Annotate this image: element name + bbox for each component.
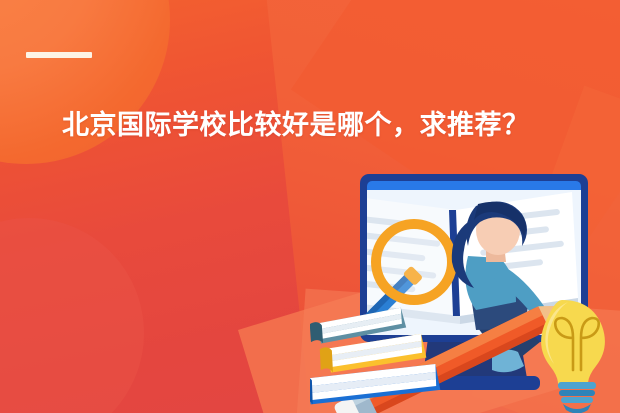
accent-rule xyxy=(26,52,92,58)
study-search-illustration xyxy=(310,170,620,413)
lightbulb-icon xyxy=(541,300,605,413)
poster-canvas: 北京国际学校比较好是哪个，求推荐？ xyxy=(0,0,620,413)
page-title: 北京国际学校比较好是哪个，求推荐？ xyxy=(62,100,562,152)
